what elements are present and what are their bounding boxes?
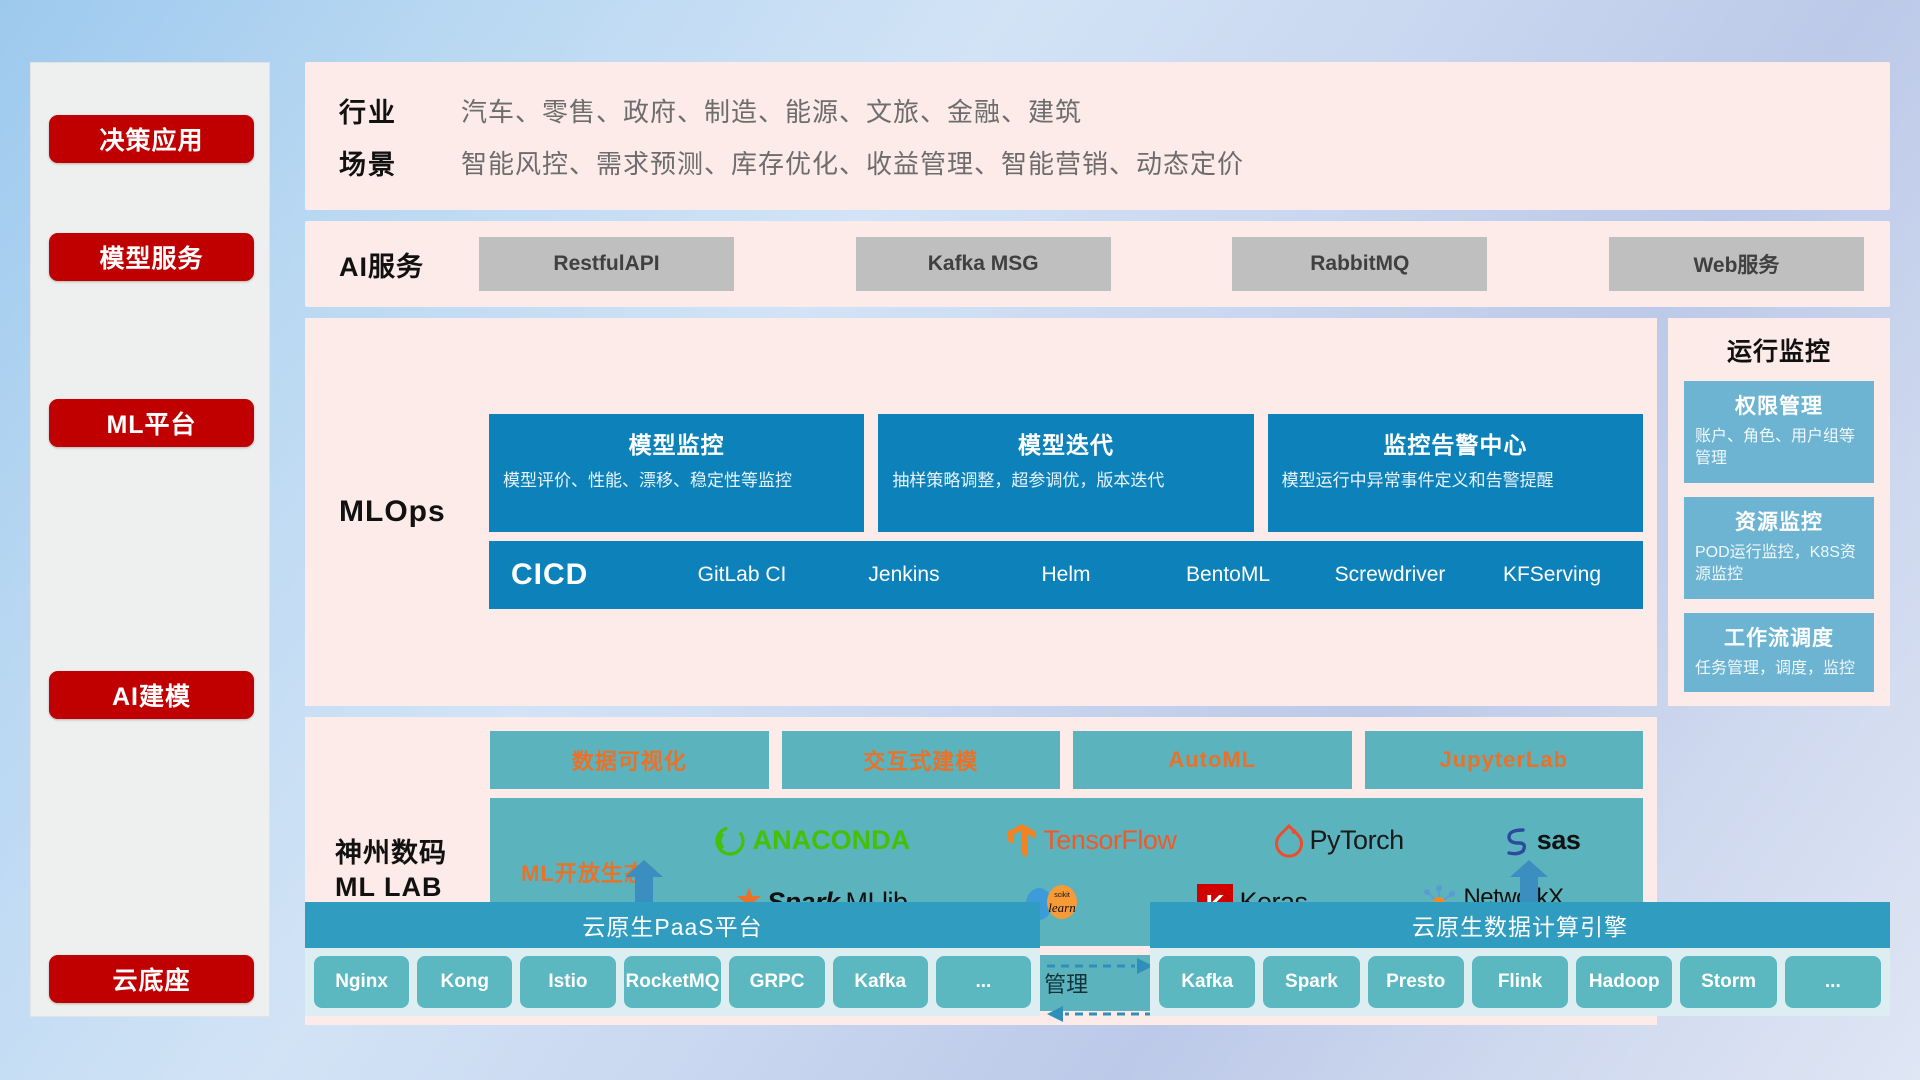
service-box-kafka-msg[interactable]: Kafka MSG	[856, 237, 1111, 291]
sas-text: sas	[1537, 825, 1581, 856]
cicd-bar: CICD GitLab CI Jenkins Helm BentoML Scre…	[489, 541, 1643, 609]
chip-spark[interactable]: Spark	[1263, 956, 1359, 1008]
chip-kafka-compute[interactable]: Kafka	[1159, 956, 1255, 1008]
card-desc: POD运行监控，K8S资源监控	[1695, 542, 1863, 587]
mlops-card-model-monitoring[interactable]: 模型监控 模型评价、性能、漂移、稳定性等监控	[489, 414, 864, 532]
industry-label: 行业	[339, 91, 461, 130]
tool-automl[interactable]: AutoML	[1073, 731, 1352, 789]
card-desc: 抽样策略调整，超参调优，版本迭代	[892, 469, 1239, 494]
chip-more-compute[interactable]: ...	[1785, 956, 1881, 1008]
scenario-row: 场景 智能风控、需求预测、库存优化、收益管理、智能营销、动态定价	[339, 136, 1890, 188]
chip-flink[interactable]: Flink	[1472, 956, 1568, 1008]
industry-row: 行业 汽车、零售、政府、制造、能源、文旅、金融、建筑	[339, 84, 1890, 136]
tensorflow-logo: TensorFlow	[1007, 822, 1176, 860]
chip-istio[interactable]: Istio	[520, 956, 615, 1008]
rail-item-cloud-base[interactable]: 云底座	[49, 955, 254, 1003]
cloud-base-layer: 云原生PaaS平台 Nginx Kong Istio RocketMQ GRPC…	[305, 860, 1890, 1065]
cicd-label: CICD	[511, 558, 661, 592]
tool-jupyterlab[interactable]: JupyterLab	[1365, 731, 1644, 789]
cicd-item-gitlab-ci[interactable]: GitLab CI	[661, 564, 823, 586]
decision-apps-band: 行业 汽车、零售、政府、制造、能源、文旅、金融、建筑 场景 智能风控、需求预测、…	[305, 62, 1890, 210]
tool-data-visualization[interactable]: 数据可视化	[490, 731, 769, 789]
cicd-item-kfserving[interactable]: KFServing	[1471, 564, 1633, 586]
card-title: 工作流调度	[1695, 622, 1863, 652]
cicd-item-bentoml[interactable]: BentoML	[1147, 564, 1309, 586]
monitor-card-resource[interactable]: 资源监控 POD运行监控，K8S资源监控	[1684, 497, 1874, 599]
chip-storm[interactable]: Storm	[1680, 956, 1776, 1008]
runtime-monitor-panel: 运行监控 权限管理 账户、角色、用户组等管理 资源监控 POD运行监控，K8S资…	[1668, 318, 1890, 706]
scenario-label: 场景	[339, 143, 461, 182]
arrow-up-compute-icon	[1510, 860, 1548, 906]
ai-service-label: AI服务	[339, 245, 479, 284]
data-compute-engine-group: 云原生数据计算引擎 Kafka Spark Presto Flink Hadoo…	[1150, 902, 1890, 1016]
chip-rocketmq[interactable]: RocketMQ	[624, 956, 722, 1008]
service-box-restfulapi[interactable]: RestfulAPI	[479, 237, 734, 291]
chip-kafka[interactable]: Kafka	[833, 956, 928, 1008]
industry-values: 汽车、零售、政府、制造、能源、文旅、金融、建筑	[461, 92, 1082, 129]
paas-platform-title: 云原生PaaS平台	[305, 902, 1040, 948]
cicd-item-jenkins[interactable]: Jenkins	[823, 564, 985, 586]
layer-rail: 决策应用 模型服务 ML平台 AI建模 云底座	[30, 62, 270, 1017]
rail-item-ai-modeling[interactable]: AI建模	[49, 671, 254, 719]
pytorch-icon	[1274, 823, 1304, 859]
ml-platform-row: MLOps 模型监控 模型评价、性能、漂移、稳定性等监控 模型迭代 抽样策略调整…	[305, 318, 1890, 706]
pytorch-logo: PyTorch	[1274, 823, 1404, 859]
tensorflow-text: TensorFlow	[1043, 825, 1176, 856]
service-box-rabbitmq[interactable]: RabbitMQ	[1232, 237, 1487, 291]
data-compute-engine-title: 云原生数据计算引擎	[1150, 902, 1890, 948]
anaconda-logo: ANACONDA	[713, 824, 911, 858]
rail-item-ml-platform[interactable]: ML平台	[49, 399, 254, 447]
modeling-tools: 数据可视化 交互式建模 AutoML JupyterLab	[490, 731, 1643, 789]
pytorch-text: PyTorch	[1310, 825, 1404, 856]
cicd-item-helm[interactable]: Helm	[985, 564, 1147, 586]
arrow-up-paas-icon	[625, 860, 663, 906]
paas-chip-tray: Nginx Kong Istio RocketMQ GRPC Kafka ...	[305, 948, 1040, 1016]
mlops-band: MLOps 模型监控 模型评价、性能、漂移、稳定性等监控 模型迭代 抽样策略调整…	[305, 318, 1657, 706]
runtime-monitor-title: 运行监控	[1684, 332, 1874, 368]
mlops-label: MLOps	[339, 495, 489, 529]
chip-presto[interactable]: Presto	[1368, 956, 1464, 1008]
card-title: 监控告警中心	[1282, 426, 1629, 460]
card-desc: 模型评价、性能、漂移、稳定性等监控	[503, 469, 850, 494]
ai-service-boxes: RestfulAPI Kafka MSG RabbitMQ Web服务	[479, 237, 1864, 291]
card-title: 资源监控	[1695, 506, 1863, 536]
rail-item-decision-apps[interactable]: 决策应用	[49, 115, 254, 163]
ai-service-band: AI服务 RestfulAPI Kafka MSG RabbitMQ Web服务	[305, 221, 1890, 307]
rail-item-model-service[interactable]: 模型服务	[49, 233, 254, 281]
tool-interactive-modeling[interactable]: 交互式建模	[782, 731, 1061, 789]
mlops-cards: 模型监控 模型评价、性能、漂移、稳定性等监控 模型迭代 抽样策略调整，超参调优，…	[489, 414, 1643, 532]
card-desc: 模型运行中异常事件定义和告警提醒	[1282, 469, 1629, 494]
card-title: 模型监控	[503, 426, 850, 460]
mlops-card-alert-center[interactable]: 监控告警中心 模型运行中异常事件定义和告警提醒	[1268, 414, 1643, 532]
scenario-values: 智能风控、需求预测、库存优化、收益管理、智能营销、动态定价	[461, 144, 1244, 181]
card-title: 模型迭代	[892, 426, 1239, 460]
cicd-items: GitLab CI Jenkins Helm BentoML Screwdriv…	[661, 564, 1633, 586]
chip-hadoop[interactable]: Hadoop	[1576, 956, 1672, 1008]
card-title: 权限管理	[1695, 390, 1863, 420]
tensorflow-icon	[1007, 822, 1037, 860]
monitor-card-permission[interactable]: 权限管理 账户、角色、用户组等管理	[1684, 381, 1874, 483]
chip-more-paas[interactable]: ...	[936, 956, 1031, 1008]
mlops-stack: 模型监控 模型评价、性能、漂移、稳定性等监控 模型迭代 抽样策略调整，超参调优，…	[489, 414, 1643, 609]
service-box-web[interactable]: Web服务	[1609, 237, 1864, 291]
sas-logo: sas	[1501, 824, 1581, 858]
paas-platform-group: 云原生PaaS平台 Nginx Kong Istio RocketMQ GRPC…	[305, 902, 1040, 1016]
anaconda-icon	[713, 824, 747, 858]
cicd-item-screwdriver[interactable]: Screwdriver	[1309, 564, 1471, 586]
bidirectional-link-arrows-icon	[1045, 952, 1155, 1028]
anaconda-text: ANACONDA	[753, 825, 911, 856]
chip-nginx[interactable]: Nginx	[314, 956, 409, 1008]
card-desc: 任务管理，调度，监控	[1695, 658, 1863, 680]
chip-grpc[interactable]: GRPC	[729, 956, 824, 1008]
chip-kong[interactable]: Kong	[417, 956, 512, 1008]
sas-icon	[1501, 824, 1531, 858]
monitor-card-workflow[interactable]: 工作流调度 任务管理，调度，监控	[1684, 613, 1874, 692]
card-desc: 账户、角色、用户组等管理	[1695, 426, 1863, 471]
mlops-card-model-iteration[interactable]: 模型迭代 抽样策略调整，超参调优，版本迭代	[878, 414, 1253, 532]
compute-chip-tray: Kafka Spark Presto Flink Hadoop Storm ..…	[1150, 948, 1890, 1016]
